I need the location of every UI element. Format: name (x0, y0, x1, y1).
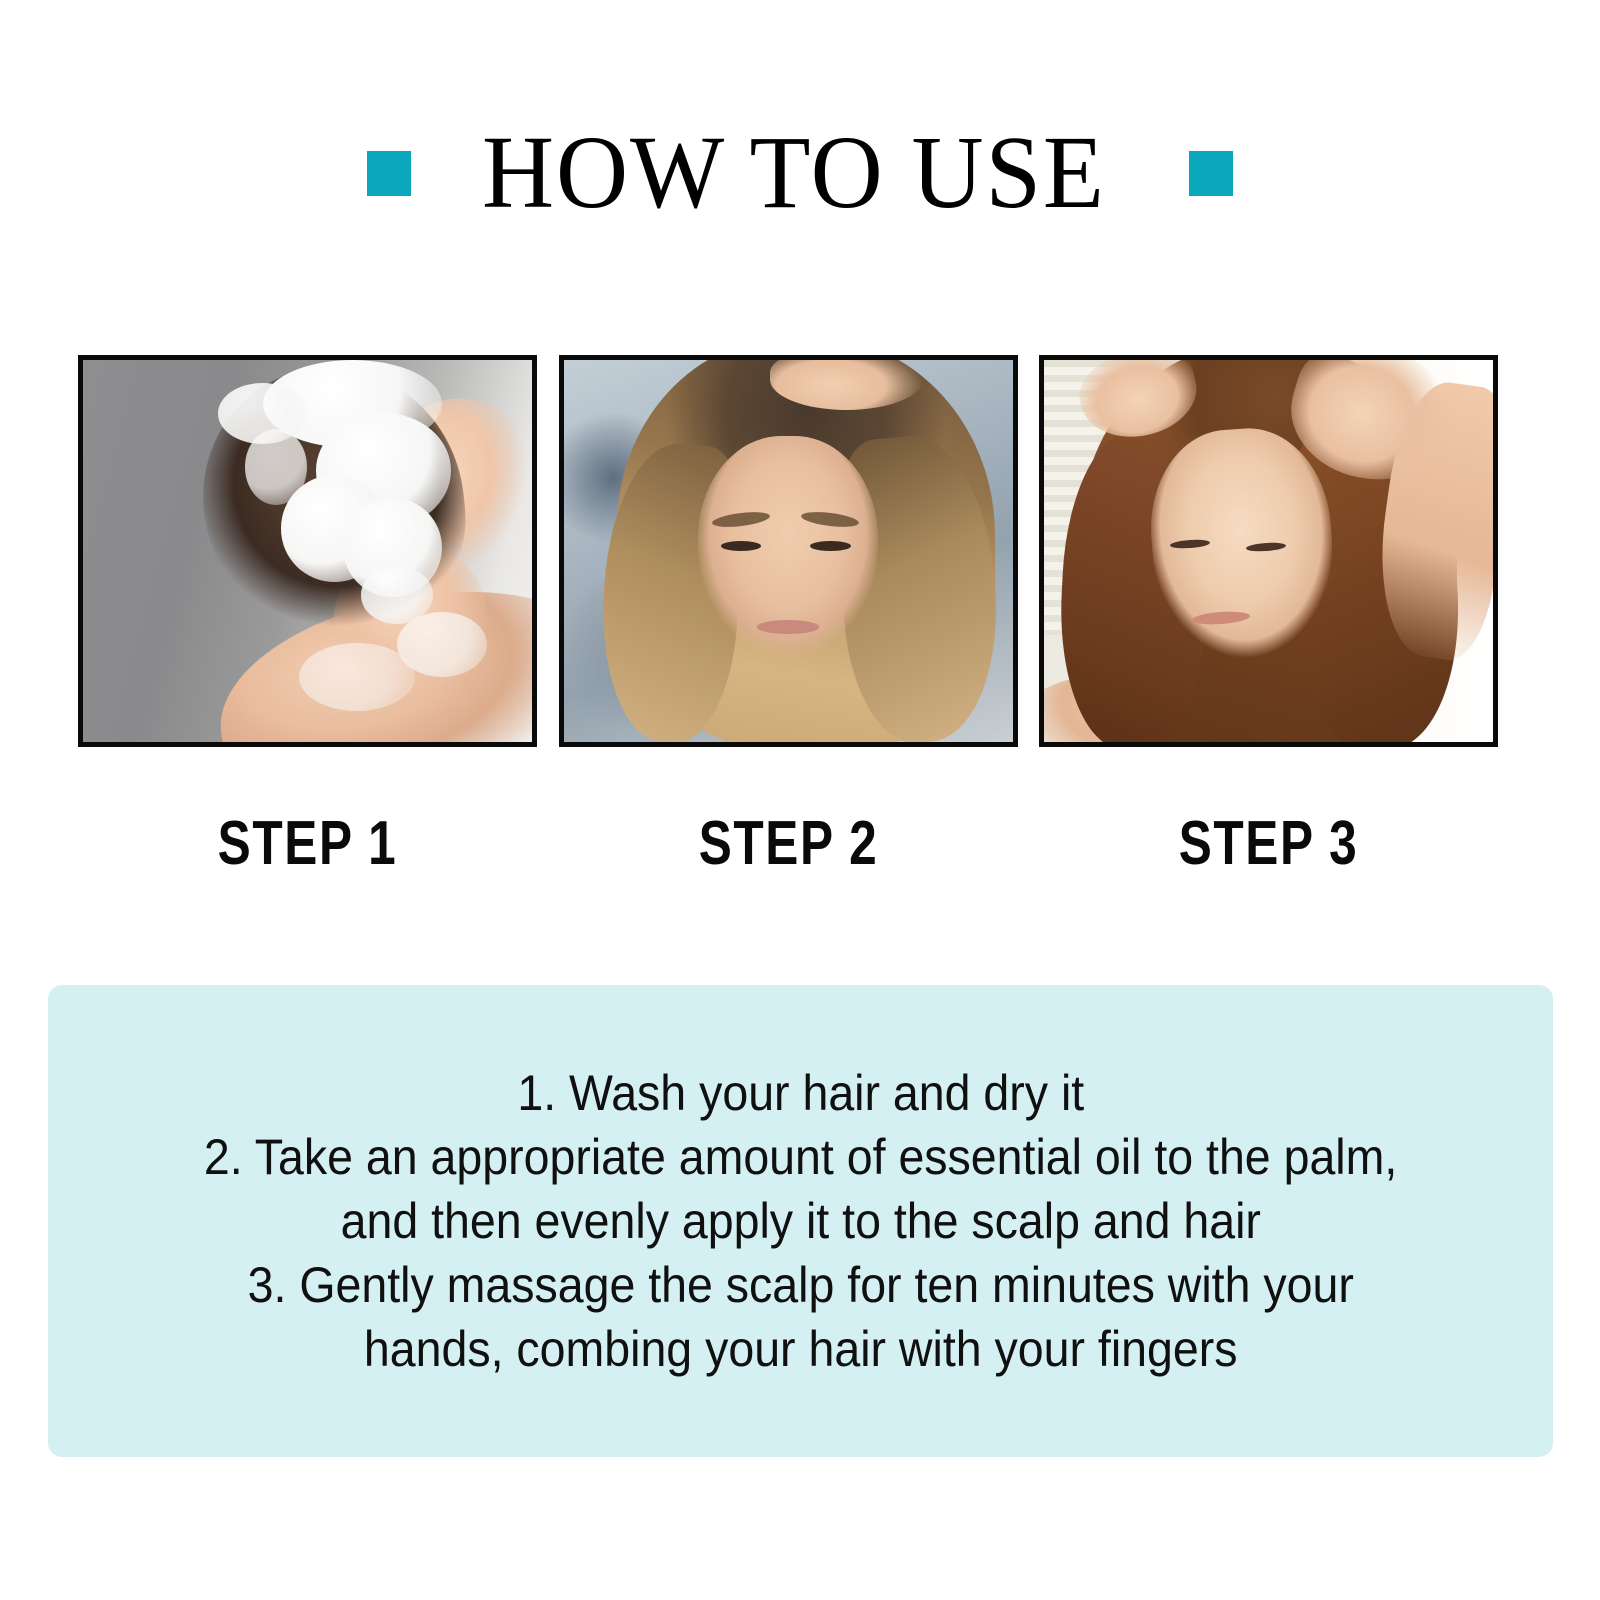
instruction-line-4: 3. Gently massage the scalp for ten minu… (247, 1253, 1353, 1317)
instructions-panel: 1. Wash your hair and dry it 2. Take an … (48, 985, 1553, 1457)
step-2-photo-applying-oil (564, 360, 1013, 742)
instruction-line-1: 1. Wash your hair and dry it (517, 1061, 1084, 1125)
photo-lather (299, 643, 416, 712)
instruction-line-5: hands, combing your hair with your finge… (364, 1317, 1238, 1381)
step-3-photo-massaging-scalp (1044, 360, 1493, 742)
step-photo-gallery (78, 355, 1498, 747)
step-2-label: STEP 2 (604, 805, 971, 883)
header: HOW TO USE (0, 118, 1600, 228)
instruction-line-2: 2. Take an appropriate amount of essenti… (204, 1125, 1397, 1189)
step-1-photo-washing-hair (83, 360, 532, 742)
step-1-label: STEP 1 (124, 805, 491, 883)
square-decoration-right-icon (1189, 151, 1233, 196)
instruction-line-3: and then evenly apply it to the scalp an… (340, 1189, 1260, 1253)
page-title: HOW TO USE (482, 121, 1106, 225)
step-2-photo-frame (559, 355, 1018, 747)
photo-lips (757, 620, 820, 634)
step-label-row: STEP 1 STEP 2 STEP 3 (78, 805, 1498, 883)
step-3-photo-frame (1039, 355, 1498, 747)
square-decoration-left-icon (367, 151, 411, 196)
photo-lather (245, 429, 308, 505)
step-3-label: STEP 3 (1085, 805, 1452, 883)
step-1-photo-frame (78, 355, 537, 747)
